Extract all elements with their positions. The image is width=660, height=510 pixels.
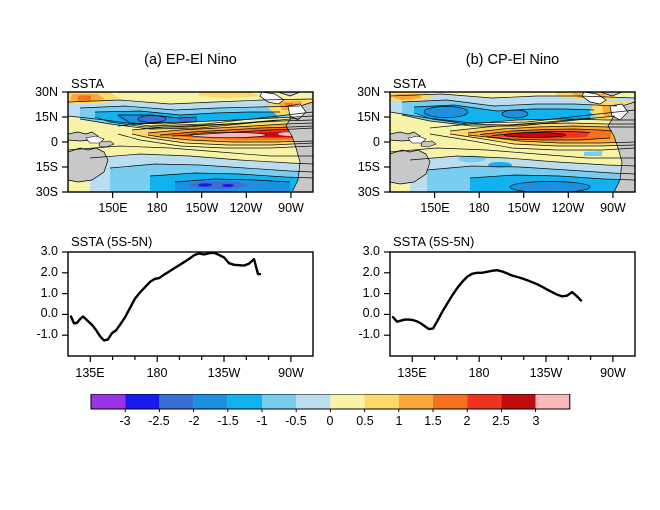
colorbar-tick-1: -2.5: [139, 414, 179, 428]
colorbar-tick-11: 2.5: [481, 414, 521, 428]
map-a-xtick-150w: 150W: [177, 201, 227, 215]
map-b-ytick-15n: 15N: [336, 110, 380, 124]
colorbar-tick-12: 3: [516, 414, 556, 428]
map-b-xtick-150e: 150E: [410, 201, 460, 215]
line-a-xtick-180: 180: [132, 366, 182, 380]
map-b-xtick-120w: 120W: [543, 201, 593, 215]
map-a-subtitle: SSTA: [71, 76, 104, 91]
map-a-ytick-30n: 30N: [14, 85, 58, 99]
line-b-ytick-2: 2.0: [338, 265, 380, 279]
line-b-xtick-135e: 135E: [387, 366, 437, 380]
map-b-ytick-15s: 15S: [336, 160, 380, 174]
line-a-ytick-m1: -1.0: [16, 327, 58, 341]
line-b-ytick-1: 1.0: [338, 286, 380, 300]
line-a-xtick-135e: 135E: [65, 366, 115, 380]
map-b-xtick-150w: 150W: [499, 201, 549, 215]
line-b-ytick-3: 3.0: [338, 244, 380, 258]
map-a-ytick-15s: 15S: [14, 160, 58, 174]
map-a-ytick-30s: 30S: [14, 185, 58, 199]
line-a-ytick-1: 1.0: [16, 286, 58, 300]
line-b-xtick-90w: 90W: [588, 366, 638, 380]
map-b-subtitle: SSTA: [393, 76, 426, 91]
line-a-subtitle: SSTA (5S-5N): [71, 234, 152, 249]
colorbar: [0, 394, 660, 414]
line-b-xtick-135w: 135W: [521, 366, 571, 380]
line-b-ytick-m1: -1.0: [338, 327, 380, 341]
map-b-ytick-0: 0: [336, 135, 380, 149]
colorbar-segments: [91, 394, 570, 409]
map-a-ytick-15n: 15N: [14, 110, 58, 124]
map-a-xtick-150e: 150E: [88, 201, 138, 215]
line-b-ytick-0: 0.0: [338, 306, 380, 320]
map-b-field: [390, 92, 635, 193]
map-b-ytick-30n: 30N: [336, 85, 380, 99]
map-b-xtick-90w: 90W: [588, 201, 638, 215]
map-a-xtick-90w: 90W: [266, 201, 316, 215]
panel-a-title: (a) EP-El Nino: [68, 52, 313, 68]
line-b-xtick-180: 180: [454, 366, 504, 380]
map-a-ytick-0: 0: [14, 135, 58, 149]
line-a-xtick-135w: 135W: [199, 366, 249, 380]
map-a-xtick-120w: 120W: [221, 201, 271, 215]
line-a-xtick-90w: 90W: [266, 366, 316, 380]
map-a-xtick-180: 180: [132, 201, 182, 215]
colorbar-tick-6: 0: [310, 414, 350, 428]
line-b-subtitle: SSTA (5S-5N): [393, 234, 474, 249]
map-b-xtick-180: 180: [454, 201, 504, 215]
map-b-ytick-30s: 30S: [336, 185, 380, 199]
figure-root: (a) EP-El Nino (b) CP-El Nino SSTA: [0, 0, 660, 510]
line-a-ytick-3: 3.0: [16, 244, 58, 258]
panel-b-title: (b) CP-El Nino: [390, 52, 635, 68]
line-a-ytick-2: 2.0: [16, 265, 58, 279]
line-b-frame: [390, 252, 635, 356]
colorbar-svg: [0, 394, 660, 414]
line-a-ytick-0: 0.0: [16, 306, 58, 320]
